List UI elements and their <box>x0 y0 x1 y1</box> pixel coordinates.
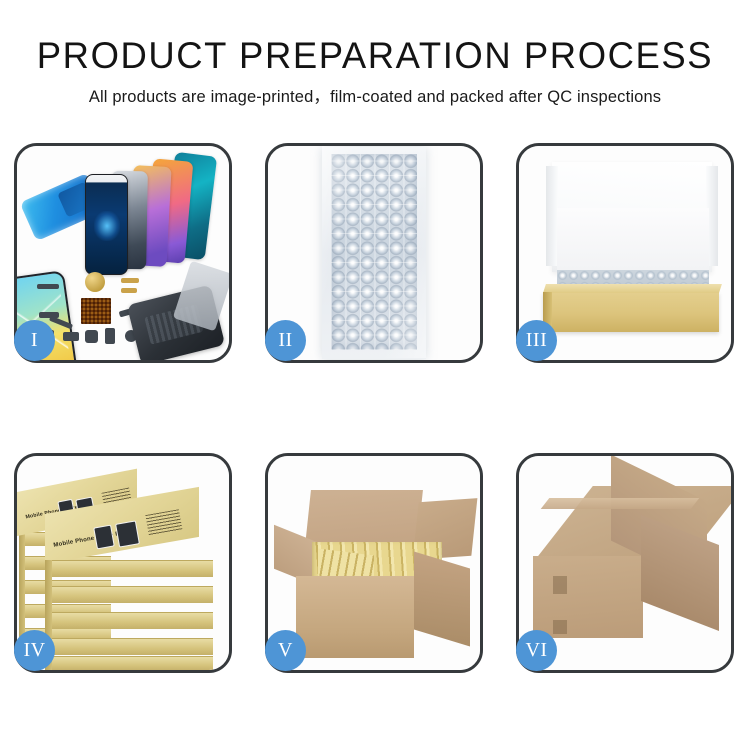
phone-fan-group <box>83 152 229 277</box>
carton-front-face <box>533 556 643 638</box>
packing-tape-shape <box>541 498 700 509</box>
step-badge-5: V <box>265 630 306 671</box>
part-shape <box>63 332 79 341</box>
page-header: PRODUCT PREPARATION PROCESS All products… <box>0 0 750 108</box>
carton-seam-shape <box>553 620 567 634</box>
box-side-shape <box>19 532 25 642</box>
process-step-grid: I II III Mobile P <box>14 143 736 685</box>
part-shape <box>49 316 73 330</box>
carton-flap-shape <box>305 490 423 546</box>
page-title: PRODUCT PREPARATION PROCESS <box>6 0 745 79</box>
part-shape <box>85 272 105 292</box>
part-shape <box>121 288 137 293</box>
box-lid-screen-icon <box>93 525 115 550</box>
part-shape <box>121 278 139 283</box>
step-badge-6: VI <box>516 630 557 671</box>
phone-screen-shape <box>85 174 128 275</box>
bubble-gloss-shape <box>322 146 426 358</box>
kraft-tray-shape <box>543 292 719 332</box>
part-shape <box>37 284 59 289</box>
step-badge-3: III <box>516 320 557 361</box>
part-shape <box>105 328 115 344</box>
process-step-panel-1[interactable]: I <box>14 143 232 363</box>
box-edge-shape <box>45 586 213 603</box>
box-lid-screen-icon <box>115 520 140 547</box>
step-badge-2: II <box>265 320 306 361</box>
page-subtitle: All products are image-printed，film-coat… <box>0 79 750 108</box>
carton-seam-shape <box>553 576 567 594</box>
part-shape <box>81 298 111 324</box>
process-step-panel-3[interactable]: III <box>516 143 734 363</box>
step-badge-1: I <box>14 320 55 361</box>
carton-side-face <box>414 551 470 646</box>
box-edge-shape <box>45 638 213 655</box>
part-shape <box>85 330 98 343</box>
box-edge-shape <box>45 656 213 670</box>
carton-front-face <box>296 576 414 658</box>
process-step-panel-2[interactable]: II <box>265 143 483 363</box>
step-badge-4: IV <box>14 630 55 671</box>
box-edge-shape <box>45 560 213 577</box>
process-step-panel-4[interactable]: Mobile Phone Spare Parts Mobile Phone Sp… <box>14 453 232 673</box>
foam-padding-shape <box>557 208 709 270</box>
box-edge-shape <box>45 612 213 629</box>
process-step-panel-6[interactable]: VI <box>516 453 734 673</box>
process-step-panel-5[interactable]: V <box>265 453 483 673</box>
